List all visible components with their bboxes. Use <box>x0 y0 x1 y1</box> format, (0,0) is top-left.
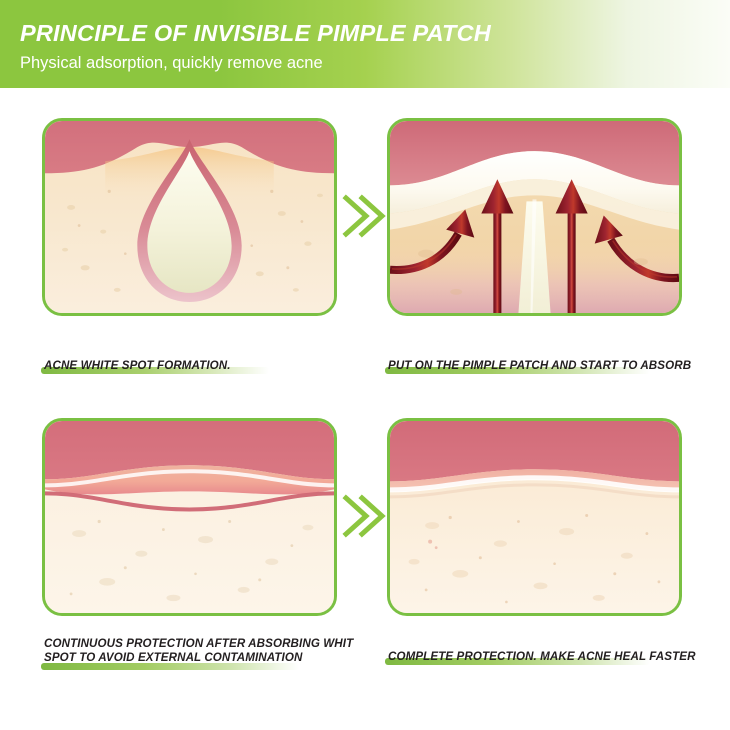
step-1-illustration <box>42 118 337 316</box>
double-chevron-right-icon <box>340 188 386 244</box>
step-2-caption-line1: PUT ON THE PIMPLE PATCH AND START TO ABS… <box>388 359 691 372</box>
complete-protection-diagram <box>390 421 679 613</box>
caption-underline-3 <box>41 663 299 670</box>
page-title: PRINCIPLE OF INVISIBLE PIMPLE PATCH <box>20 22 491 46</box>
step-arrow-2 <box>340 488 386 544</box>
step-3-caption-line2: SPOT TO AVOID EXTERNAL CONTAMINATION <box>44 651 353 665</box>
step-4-illustration <box>387 418 682 616</box>
step-3-illustration <box>42 418 337 616</box>
step-1-caption: ACNE WHITE SPOT FORMATION. <box>44 359 231 373</box>
header-banner: PRINCIPLE OF INVISIBLE PIMPLE PATCH Phys… <box>0 0 730 88</box>
step-4-caption: COMPLETE PROTECTION. MAKE ACNE HEAL FAST… <box>388 650 696 664</box>
step-2-caption: PUT ON THE PIMPLE PATCH AND START TO ABS… <box>388 359 691 373</box>
step-1-caption-line1: ACNE WHITE SPOT FORMATION. <box>44 359 231 372</box>
step-2-illustration <box>387 118 682 316</box>
patch-absorbing-diagram <box>390 121 679 313</box>
page-subtitle: Physical adsorption, quickly remove acne <box>20 55 323 72</box>
step-3-caption: CONTINUOUS PROTECTION AFTER ABSORBING WH… <box>44 637 353 664</box>
acne-white-spot-diagram <box>45 121 334 313</box>
step-4-caption-line1: COMPLETE PROTECTION. MAKE ACNE HEAL FAST… <box>388 650 696 663</box>
step-3-caption-line1: CONTINUOUS PROTECTION AFTER ABSORBING WH… <box>44 637 353 650</box>
step-arrow-1 <box>340 188 386 244</box>
double-chevron-right-icon <box>340 488 386 544</box>
continuous-protection-diagram <box>45 421 334 613</box>
